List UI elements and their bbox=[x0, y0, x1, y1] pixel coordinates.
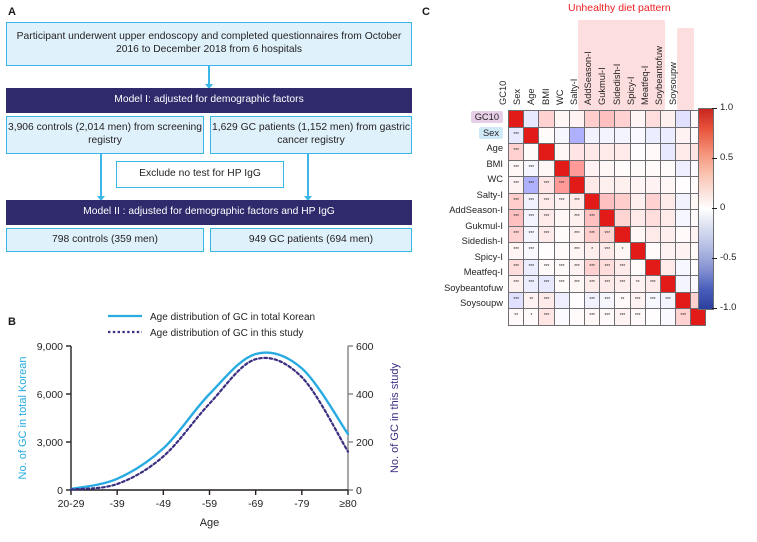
heatmap-column-label: Soysoupw bbox=[668, 62, 678, 105]
heatmap-cell bbox=[554, 144, 569, 161]
heatmap-row: *** bbox=[509, 127, 706, 144]
heatmap-row: *************** bbox=[509, 210, 706, 227]
heatmap-cell: *** bbox=[584, 259, 599, 276]
heatmap-cell: *** bbox=[509, 276, 524, 293]
heatmap-cell bbox=[660, 144, 675, 161]
heatmap-row-label: AddSeason-I bbox=[449, 205, 503, 215]
heatmap-cell bbox=[645, 144, 660, 161]
heatmap-cell bbox=[600, 160, 615, 177]
heatmap-row-label-cell: Soybeantofuw bbox=[420, 281, 506, 297]
x-ticklabel: 20-29 bbox=[58, 498, 85, 510]
heatmap-column-label: GC10 bbox=[498, 81, 508, 105]
flow-box-controls-model2: 798 controls (359 men) bbox=[6, 228, 204, 252]
heatmap-cell: *** bbox=[569, 226, 584, 243]
heatmap-cell bbox=[615, 111, 630, 128]
heatmap-cell: *** bbox=[676, 309, 691, 326]
heatmap-cell: *** bbox=[630, 292, 645, 309]
heatmap-column-label: Age bbox=[526, 88, 536, 105]
heatmap-cell: *** bbox=[554, 177, 569, 194]
heatmap-cell: *** bbox=[524, 177, 539, 194]
heatmap-cell bbox=[554, 226, 569, 243]
flow-box-cases-model2: 949 GC patients (694 men) bbox=[210, 228, 412, 252]
heatmap-row-labels: GC10SexAgeBMIWCSalty-IAddSeason-IGukmul-… bbox=[420, 110, 506, 312]
heatmap-table: ****************************************… bbox=[508, 110, 706, 326]
heatmap-cell: *** bbox=[509, 226, 524, 243]
y-axis-title-left: No. of GC in total Korean bbox=[17, 357, 29, 480]
colorbar-tick bbox=[712, 208, 717, 209]
heatmap-row bbox=[509, 111, 706, 128]
heatmap-cell bbox=[569, 160, 584, 177]
heatmap-cell bbox=[630, 193, 645, 210]
heatmap-row-label: Soysoupw bbox=[460, 298, 503, 308]
heatmap-cell: *** bbox=[569, 193, 584, 210]
heatmap-column-label: WC bbox=[555, 90, 565, 106]
y-ticklabel-right: 0 bbox=[356, 485, 362, 497]
y-ticklabel-left: 9,000 bbox=[37, 341, 63, 353]
heatmap-cell: *** bbox=[524, 160, 539, 177]
heatmap-cell bbox=[676, 127, 691, 144]
heatmap-cell bbox=[645, 259, 660, 276]
heatmap-cell: *** bbox=[584, 276, 599, 293]
heatmap-cell: *** bbox=[569, 259, 584, 276]
heatmap-cell bbox=[660, 127, 675, 144]
heatmap-row-label-cell: Age bbox=[420, 141, 506, 157]
heatmap-cell: * bbox=[584, 243, 599, 260]
heatmap-cell: *** bbox=[600, 226, 615, 243]
heatmap-cell: *** bbox=[569, 210, 584, 227]
heatmap-cell bbox=[584, 177, 599, 194]
heatmap-cell bbox=[584, 160, 599, 177]
heatmap-cell: *** bbox=[539, 177, 554, 194]
heatmap-cell: *** bbox=[539, 292, 554, 309]
heatmap-cell: ** bbox=[509, 309, 524, 326]
heatmap-cell: *** bbox=[539, 309, 554, 326]
heatmap-column-label: Spicy-I bbox=[626, 77, 636, 105]
heatmap-cell bbox=[600, 210, 615, 227]
legend-label-this-study: Age distribution of GC in this study bbox=[150, 328, 303, 339]
heatmap-cell bbox=[615, 160, 630, 177]
heatmap-cell bbox=[584, 193, 599, 210]
heatmap-row: ************************* bbox=[509, 292, 706, 309]
y-ticklabel-right: 200 bbox=[356, 437, 374, 449]
heatmap-cell bbox=[554, 309, 569, 326]
heatmap-cell: *** bbox=[554, 259, 569, 276]
heatmap-column-label: Soybeantofuw bbox=[654, 46, 664, 105]
heatmap-cell bbox=[539, 160, 554, 177]
heatmap-column-label: Salty-I bbox=[569, 79, 579, 105]
heatmap-row: ***************************** bbox=[509, 276, 706, 293]
heatmap-cell bbox=[569, 292, 584, 309]
heatmap-row-label: Spicy-I bbox=[475, 252, 503, 262]
heatmap-cell bbox=[676, 276, 691, 293]
heatmap-cell bbox=[691, 309, 706, 326]
panel-c-letter: C bbox=[422, 6, 430, 18]
heatmap-cell bbox=[676, 210, 691, 227]
heatmap-cell bbox=[554, 243, 569, 260]
heatmap-cell bbox=[660, 259, 675, 276]
colorbar-tick bbox=[712, 108, 717, 109]
x-ticklabel: -49 bbox=[156, 498, 171, 510]
heatmap-cell bbox=[630, 111, 645, 128]
heatmap-cell bbox=[524, 111, 539, 128]
heatmap-cell bbox=[539, 127, 554, 144]
panel-a-flowchart: A Participant underwent upper endoscopy … bbox=[0, 0, 418, 290]
arrow-controls-to-model2 bbox=[100, 154, 102, 198]
heatmap-cell: *** bbox=[509, 144, 524, 161]
heatmap-row-label-cell: Sidedish-I bbox=[420, 234, 506, 250]
heatmap-cell bbox=[600, 177, 615, 194]
heatmap-cell: *** bbox=[615, 309, 630, 326]
heatmap-cell: ** bbox=[630, 276, 645, 293]
heatmap-cell bbox=[630, 243, 645, 260]
heatmap-cell: *** bbox=[554, 276, 569, 293]
y-ticklabel-right: 400 bbox=[356, 389, 374, 401]
heatmap-cell: *** bbox=[615, 259, 630, 276]
heatmap-cell: *** bbox=[645, 276, 660, 293]
heatmap-cell: *** bbox=[524, 243, 539, 260]
age-distribution-chart: Age distribution of GC in total KoreanAg… bbox=[0, 300, 418, 542]
heatmap-cell: *** bbox=[509, 193, 524, 210]
heatmap-cell: *** bbox=[554, 193, 569, 210]
arrow-cases-to-model2 bbox=[307, 154, 309, 198]
heatmap-cell bbox=[569, 111, 584, 128]
heatmap-cell bbox=[660, 243, 675, 260]
colorbar-ticklabel: 0.5 bbox=[720, 152, 733, 163]
heatmap-column-label: Gukmul-I bbox=[597, 67, 607, 105]
panel-a-letter: A bbox=[8, 6, 16, 18]
flow-box-model1: Model I: adjusted for demographic factor… bbox=[6, 88, 412, 113]
heatmap-row-label: Sidedish-I bbox=[462, 236, 503, 246]
heatmap-cell: * bbox=[615, 243, 630, 260]
panel-b-linechart: B Age distribution of GC in total Korean… bbox=[0, 300, 418, 542]
arrow-enrollment-to-model1 bbox=[208, 66, 210, 86]
heatmap-cell: *** bbox=[615, 276, 630, 293]
heatmap-row-label: WC bbox=[488, 174, 504, 184]
heatmap-row-label: Soybeantofuw bbox=[444, 283, 503, 293]
heatmap-cell bbox=[600, 127, 615, 144]
heatmap-cell bbox=[584, 144, 599, 161]
heatmap-cell: *** bbox=[630, 309, 645, 326]
colorbar-ticklabel: 1.0 bbox=[720, 102, 733, 113]
heatmap-cell: *** bbox=[539, 259, 554, 276]
heatmap-cell: *** bbox=[539, 210, 554, 227]
y-axis-title-right: No. of GC in this study bbox=[389, 362, 401, 473]
heatmap-cell bbox=[600, 193, 615, 210]
panel-c-correlation-heatmap: C Unhealthy diet pattern GC10SexAgeBMIWC… bbox=[420, 0, 757, 340]
heatmap-column-label: Sidedish-I bbox=[612, 64, 622, 105]
x-ticklabel: -79 bbox=[294, 498, 309, 510]
heatmap-cell bbox=[645, 127, 660, 144]
heatmap-cell bbox=[569, 177, 584, 194]
heatmap-cell: *** bbox=[509, 259, 524, 276]
colorbar-ticklabel: -1.0 bbox=[720, 302, 736, 313]
heatmap-cell: * bbox=[524, 309, 539, 326]
heatmap-row-label: Age bbox=[486, 143, 503, 153]
heatmap-cell bbox=[615, 144, 630, 161]
heatmap-cell bbox=[645, 193, 660, 210]
heatmap-row-label: BMI bbox=[486, 159, 503, 169]
heatmap-cell bbox=[615, 177, 630, 194]
heatmap-cell bbox=[660, 226, 675, 243]
heatmap-cell: *** bbox=[524, 210, 539, 227]
heatmap-cell: *** bbox=[600, 276, 615, 293]
y-ticklabel-left: 3,000 bbox=[37, 437, 63, 449]
heatmap-cell: ** bbox=[524, 292, 539, 309]
heatmap-cell bbox=[554, 111, 569, 128]
heatmap-cell: *** bbox=[569, 243, 584, 260]
heatmap-row-label-cell: GC10 bbox=[420, 110, 506, 126]
heatmap-cell bbox=[554, 160, 569, 177]
heatmap-cell bbox=[539, 111, 554, 128]
heatmap-cell bbox=[554, 210, 569, 227]
heatmap-cell: *** bbox=[584, 309, 599, 326]
colorbar-tick bbox=[712, 158, 717, 159]
heatmap-cell bbox=[600, 144, 615, 161]
y-ticklabel-left: 0 bbox=[57, 485, 63, 497]
heatmap-cell: *** bbox=[524, 193, 539, 210]
heatmap-cell bbox=[676, 243, 691, 260]
heatmap-row-label-cell: Sex bbox=[420, 126, 506, 142]
colorbar-gradient bbox=[698, 108, 714, 310]
x-axis-title: Age bbox=[200, 517, 220, 529]
heatmap-row: *** bbox=[509, 144, 706, 161]
heatmap-cell bbox=[569, 127, 584, 144]
heatmap-cell bbox=[630, 144, 645, 161]
heatmap-cell bbox=[676, 292, 691, 309]
heatmap-cell bbox=[630, 160, 645, 177]
x-ticklabel: -59 bbox=[202, 498, 217, 510]
heatmap-cell bbox=[676, 144, 691, 161]
heatmap-cell: *** bbox=[584, 210, 599, 227]
heatmap-cell bbox=[645, 226, 660, 243]
series-line-this-study bbox=[71, 358, 348, 490]
flow-box-cases-model1: 1,629 GC patients (1,152 men) from gastr… bbox=[210, 116, 412, 154]
heatmap-cell bbox=[569, 144, 584, 161]
heatmap-cell: *** bbox=[524, 259, 539, 276]
heatmap-cell: *** bbox=[539, 226, 554, 243]
heatmap-cell bbox=[615, 193, 630, 210]
legend-label-total-korean: Age distribution of GC in total Korean bbox=[150, 312, 315, 323]
heatmap-cell bbox=[615, 210, 630, 227]
heatmap-column-labels: GC10SexAgeBMIWCSalty-IAddSeason-IGukmul-… bbox=[508, 0, 698, 110]
heatmap-row-label-cell: BMI bbox=[420, 157, 506, 173]
colorbar-ticklabel: -0.5 bbox=[720, 252, 736, 263]
heatmap-column-label: BMI bbox=[541, 88, 551, 105]
heatmap-row-label: Gukmul-I bbox=[465, 221, 503, 231]
heatmap-cell bbox=[676, 193, 691, 210]
heatmap-row-label: Salty-I bbox=[477, 190, 503, 200]
flow-box-controls-model1: 3,906 controls (2,014 men) from screenin… bbox=[6, 116, 204, 154]
heatmap-row-label: Sex bbox=[479, 127, 503, 139]
colorbar-ticklabel: 0 bbox=[720, 202, 725, 213]
heatmap-cell bbox=[539, 144, 554, 161]
heatmap-row: ************** bbox=[509, 243, 706, 260]
heatmap-cell: *** bbox=[600, 259, 615, 276]
heatmap-row: ********************* bbox=[509, 309, 706, 326]
heatmap-cell bbox=[630, 226, 645, 243]
heatmap-cell: *** bbox=[600, 309, 615, 326]
x-ticklabel: -39 bbox=[110, 498, 125, 510]
heatmap-row: ****** bbox=[509, 160, 706, 177]
heatmap-cell bbox=[630, 127, 645, 144]
heatmap-cell bbox=[554, 127, 569, 144]
heatmap-row-label: Meatfeq-I bbox=[464, 267, 503, 277]
heatmap-cell: *** bbox=[509, 243, 524, 260]
heatmap-cell: *** bbox=[660, 292, 675, 309]
heatmap-row-label-cell: Meatfeq-I bbox=[420, 265, 506, 281]
heatmap-cell bbox=[630, 259, 645, 276]
heatmap-cell bbox=[645, 111, 660, 128]
colorbar-tick bbox=[712, 258, 717, 259]
flow-box-model2: Model II : adjusted for demographic fact… bbox=[6, 200, 412, 225]
y-ticklabel-left: 6,000 bbox=[37, 389, 63, 401]
heatmap-row-label-cell: Spicy-I bbox=[420, 250, 506, 266]
heatmap-row: ************************ bbox=[509, 259, 706, 276]
heatmap-column-label: AddSeason-I bbox=[583, 51, 593, 105]
heatmap-row-label-cell: AddSeason-I bbox=[420, 203, 506, 219]
heatmap-cell bbox=[615, 127, 630, 144]
heatmap-row: *************** bbox=[509, 193, 706, 210]
heatmap-cell bbox=[645, 160, 660, 177]
heatmap-cell bbox=[524, 127, 539, 144]
heatmap-cell bbox=[660, 160, 675, 177]
heatmap-cell: *** bbox=[509, 160, 524, 177]
heatmap-cell: *** bbox=[584, 292, 599, 309]
x-ticklabel: ≥80 bbox=[339, 498, 357, 510]
y-ticklabel-right: 600 bbox=[356, 341, 374, 353]
heatmap-cell bbox=[660, 276, 675, 293]
heatmap-cell bbox=[569, 309, 584, 326]
heatmap-row-label-cell: Gukmul-I bbox=[420, 219, 506, 235]
heatmap-cell bbox=[509, 111, 524, 128]
heatmap-cell bbox=[676, 177, 691, 194]
flow-box-enrollment: Participant underwent upper endoscopy an… bbox=[6, 22, 412, 66]
heatmap-cell: *** bbox=[584, 226, 599, 243]
x-ticklabel: -69 bbox=[248, 498, 263, 510]
series-line-total-korean bbox=[71, 353, 348, 489]
heatmap-cell bbox=[584, 127, 599, 144]
heatmap-cell bbox=[645, 243, 660, 260]
heatmap-column-label-cell: Soysoupw bbox=[678, 90, 692, 108]
heatmap-cell bbox=[600, 111, 615, 128]
colorbar-tick bbox=[712, 308, 717, 309]
heatmap-row-label-cell: WC bbox=[420, 172, 506, 188]
heatmap-cell: *** bbox=[509, 210, 524, 227]
heatmap-cell bbox=[630, 177, 645, 194]
heatmap-cell: *** bbox=[524, 226, 539, 243]
heatmap-cell bbox=[645, 309, 660, 326]
heatmap-cell bbox=[660, 177, 675, 194]
heatmap-cell bbox=[660, 309, 675, 326]
heatmap-cell bbox=[676, 111, 691, 128]
heatmap-column-label: Sex bbox=[512, 89, 522, 105]
heatmap-cell: *** bbox=[509, 292, 524, 309]
heatmap-grid-wrapper: ****************************************… bbox=[508, 110, 706, 326]
heatmap-cell: *** bbox=[645, 292, 660, 309]
heatmap-cell bbox=[676, 160, 691, 177]
heatmap-cell: *** bbox=[524, 276, 539, 293]
heatmap-row: ****************** bbox=[509, 226, 706, 243]
heatmap-cell bbox=[539, 243, 554, 260]
heatmap-cell bbox=[660, 210, 675, 227]
heatmap-cell bbox=[524, 144, 539, 161]
heatmap-row-label-cell: Soysoupw bbox=[420, 296, 506, 312]
heatmap-cell bbox=[584, 111, 599, 128]
heatmap-cell: *** bbox=[509, 177, 524, 194]
heatmap-cell: *** bbox=[539, 193, 554, 210]
heatmap-cell bbox=[645, 210, 660, 227]
heatmap-row: ************ bbox=[509, 177, 706, 194]
heatmap-cell bbox=[630, 210, 645, 227]
heatmap-cell bbox=[660, 193, 675, 210]
heatmap-cell bbox=[660, 111, 675, 128]
heatmap-cell: *** bbox=[600, 243, 615, 260]
heatmap-cell: *** bbox=[600, 292, 615, 309]
heatmap-row-label-cell: Salty-I bbox=[420, 188, 506, 204]
heatmap-row-label: GC10 bbox=[471, 111, 503, 123]
heatmap-cell: *** bbox=[539, 276, 554, 293]
heatmap-cell: *** bbox=[509, 127, 524, 144]
heatmap-cell bbox=[676, 259, 691, 276]
heatmap-column-label: Meatfeq-I bbox=[640, 66, 650, 105]
heatmap-cell: ** bbox=[615, 292, 630, 309]
heatmap-cell bbox=[645, 177, 660, 194]
heatmap-cell bbox=[554, 292, 569, 309]
heatmap-cell: *** bbox=[569, 276, 584, 293]
heatmap-cell bbox=[676, 226, 691, 243]
flow-box-exclude: Exclude no test for HP IgG bbox=[116, 161, 284, 188]
heatmap-cell bbox=[615, 226, 630, 243]
